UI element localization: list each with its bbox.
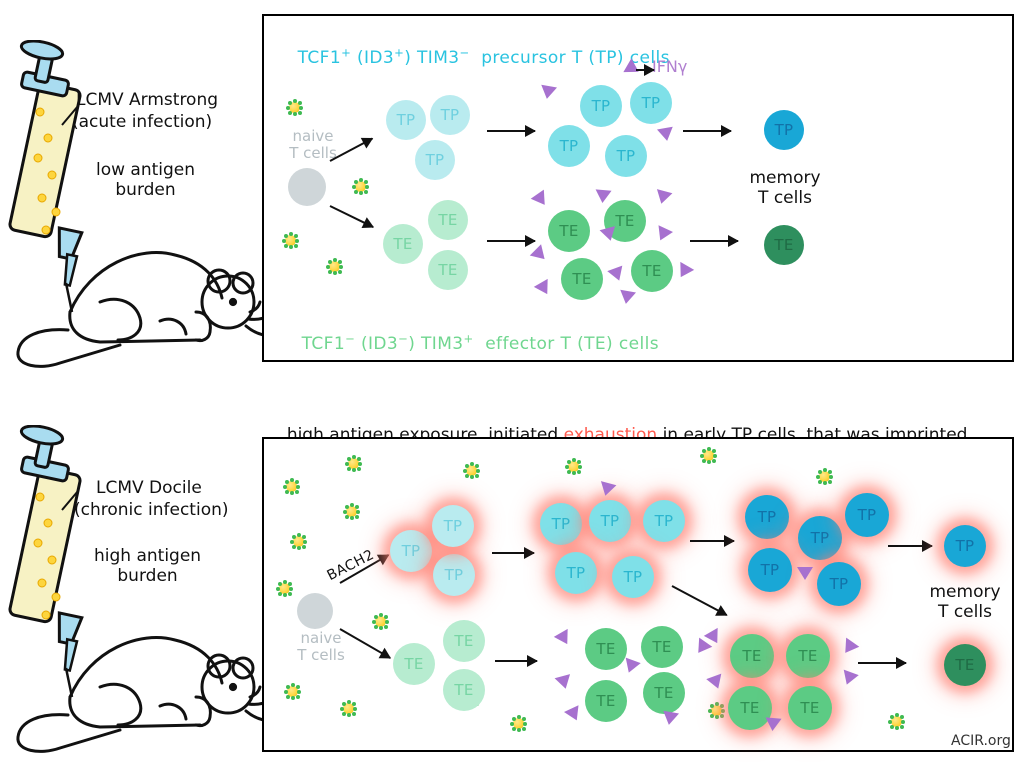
te-cell-early: TE: [428, 250, 468, 290]
tp-cell-late-exhausted: TP: [745, 495, 789, 539]
te-cell-expanded: TE: [548, 210, 590, 252]
te-cell-late-exhausted: TE: [786, 634, 830, 678]
te-memory-cell-chronic: TE: [944, 644, 986, 686]
tp-cell-early-exhausted: TP: [433, 554, 475, 596]
virus-particle: [283, 478, 300, 495]
ifng-triangle: [618, 290, 636, 306]
tp-cell-mid-exhausted: TP: [540, 503, 582, 545]
tp-cell-mid-exhausted: TP: [612, 556, 654, 598]
te-cell-late-exhausted: TE: [788, 686, 832, 730]
virus-particle: [290, 533, 307, 550]
virus-particle: [340, 700, 357, 717]
ifng-pointer-line: [636, 69, 654, 71]
virus-particle: [816, 468, 833, 485]
tp-cell-early: TP: [415, 140, 455, 180]
ifng-label: IFNγ: [652, 58, 687, 77]
tp-cell-late-exhausted: TP: [798, 516, 842, 560]
tp-cell-expanded: TP: [580, 85, 622, 127]
te-cell-mid-chronic: TE: [641, 626, 683, 668]
te-cell-early: TE: [383, 224, 423, 264]
te-cell-early-chronic: TE: [443, 669, 485, 711]
chronic-infection-type: (chronic infection): [74, 500, 229, 520]
te-cell-expanded: TE: [561, 258, 603, 300]
virus-particle: [345, 455, 362, 472]
tp-cell-expanded: TP: [605, 135, 647, 177]
tp-cells-header: TCF1+ (ID3+) TIM3− precursor T (TP) cell…: [286, 28, 670, 68]
expansion-arrow-te-chronic: [495, 660, 537, 662]
te-cell-expanded: TE: [631, 250, 673, 292]
mouse-acute: [18, 252, 262, 366]
virus-particle: [565, 458, 582, 475]
virus-particle: [326, 258, 343, 275]
chronic-antigen-burden: high antigen burden: [94, 546, 201, 586]
memory-t-cells-label-acute: memory T cells: [744, 168, 826, 208]
late-arrow-tp-chronic: [690, 540, 734, 542]
virus-particle: [282, 232, 299, 249]
te-cells-footer: TCF1− (ID3−) TIM3+ effector T (TE) cells: [290, 314, 659, 354]
watermark: ACIR.org: [951, 733, 1011, 750]
tp-cell-early-exhausted: TP: [432, 505, 474, 547]
virus-particle: [276, 580, 293, 597]
expansion-arrow-tp-acute: [487, 130, 535, 132]
virus-particle: [286, 99, 303, 116]
tp-memory-cell-chronic: TP: [944, 525, 986, 567]
memory-arrow-tp-acute: [683, 130, 731, 132]
te-memory-cell-acute: TE: [764, 225, 804, 265]
virus-particle: [708, 702, 725, 719]
tp-cell-early: TP: [430, 95, 470, 135]
tp-cell-mid-exhausted: TP: [555, 552, 597, 594]
te-cell-late-exhausted: TE: [730, 634, 774, 678]
ifng-triangle: [797, 567, 813, 580]
acute-virus-name: LCMV Armstrong: [76, 90, 218, 110]
virus-particle: [284, 683, 301, 700]
ifng-triangle: [539, 85, 557, 101]
expansion-arrow-te-acute: [487, 240, 535, 242]
te-cell-mid-chronic: TE: [585, 628, 627, 670]
virus-particle: [463, 462, 480, 479]
chronic-virus-name: LCMV Docile: [96, 478, 202, 498]
ifng-triangle: [661, 711, 679, 727]
tp-cell-early: TP: [386, 100, 426, 140]
tp-cell-mid-exhausted: TP: [643, 500, 685, 542]
memory-arrow-tp-chronic: [888, 545, 932, 547]
te-cell-early-chronic: TE: [443, 620, 485, 662]
ifng-triangle: [594, 189, 611, 203]
memory-t-cells-label-chronic: memory T cells: [924, 582, 1006, 622]
naive-t-cell-acute: [288, 168, 326, 206]
acute-infection-type: (acute infection): [72, 112, 212, 132]
mouse-chronic: [18, 637, 262, 751]
naive-t-cells-label-chronic: naive T cells: [288, 630, 354, 663]
tp-memory-cell-acute: TP: [764, 110, 804, 150]
tp-cell-early-exhausted: TP: [390, 530, 432, 572]
memory-arrow-te-acute: [690, 240, 738, 242]
tp-cell-mid-exhausted: TP: [589, 500, 631, 542]
virus-particle: [700, 447, 717, 464]
memory-arrow-te-chronic: [858, 662, 906, 664]
te-cell-mid-chronic: TE: [643, 672, 685, 714]
te-cell-mid-chronic: TE: [585, 680, 627, 722]
virus-particle: [352, 178, 369, 195]
tp-cell-late-exhausted: TP: [748, 548, 792, 592]
tp-cell-late-exhausted: TP: [845, 493, 889, 537]
syringe-acute: [9, 40, 82, 312]
syringe-chronic: [9, 425, 82, 697]
acute-antigen-burden: low antigen burden: [96, 160, 195, 200]
naive-t-cell-chronic: [297, 593, 333, 629]
tp-cell-expanded: TP: [548, 125, 590, 167]
tp-cell-expanded: TP: [630, 82, 672, 124]
ifng-triangle: [657, 127, 675, 143]
chronic-infection-illustration: [0, 425, 262, 760]
ifng-triangle: [764, 717, 781, 731]
virus-particle: [510, 715, 527, 732]
tp-cell-late-exhausted: TP: [817, 562, 861, 606]
virus-particle: [372, 613, 389, 630]
te-cell-early: TE: [428, 200, 468, 240]
virus-particle: [343, 503, 360, 520]
virus-particle: [888, 713, 905, 730]
te-cell-early-chronic: TE: [393, 643, 435, 685]
expansion-arrow-tp-chronic: [492, 552, 534, 554]
